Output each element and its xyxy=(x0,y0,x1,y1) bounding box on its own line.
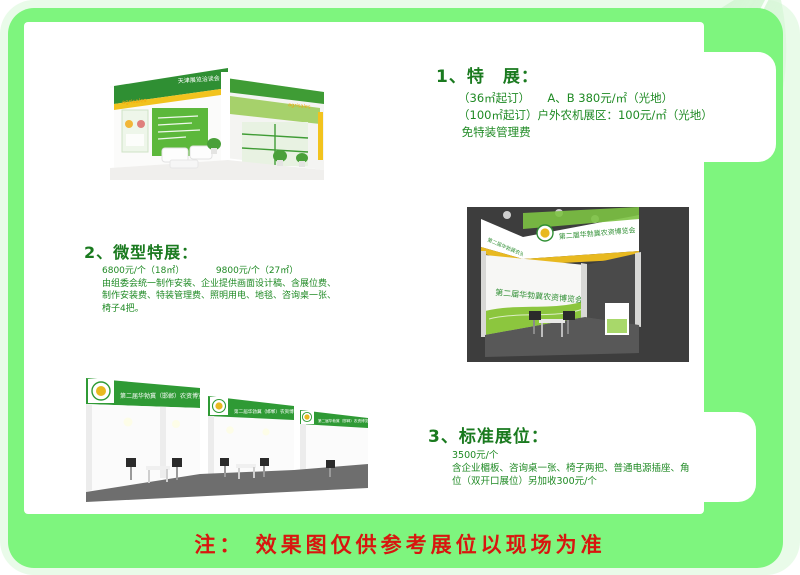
section-2-body: 6800元/个（18㎡） 9800元/个（27㎡） 由组委会统一制作安装、企业提… xyxy=(66,263,382,315)
section-1-line-2: （100㎡起订）户外农机展区：100元/㎡（光地） xyxy=(458,107,776,124)
section-3-body: 3500元/个 含企业楣板、咨询桌一张、椅子两把、普通电源插座、角 位（双开口展… xyxy=(406,447,756,488)
section-1-title: 特 展： xyxy=(467,67,539,87)
section-2-index: 2、 xyxy=(84,243,113,262)
photo-standard-booth: 第二届华勃冀（邯郸）农资博览会 第二届华勃冀（邯郸）农资博览会 第二届华勃冀（邯… xyxy=(68,366,380,506)
callout-standard-booth: 3、标准展位： 3500元/个 含企业楣板、咨询桌一张、椅子两把、普通电源插座、… xyxy=(406,412,756,502)
section-3-line-2: 含企业楣板、咨询桌一张、椅子两把、普通电源插座、角 xyxy=(452,462,756,475)
callout-micro-exhibit: 2、微型特展： 6800元/个（18㎡） 9800元/个（27㎡） 由组委会统一… xyxy=(66,233,382,331)
section-1-line-3: 免特装管理费 xyxy=(458,124,776,141)
bubble-tail-3 xyxy=(386,434,407,468)
svg-text:第二届华勃冀（邯郸）农资博览会: 第二届华勃冀（邯郸）农资博览会 xyxy=(120,392,210,400)
section-3-line-1: 3500元/个 xyxy=(452,449,756,462)
section-3-title: 标准展位： xyxy=(459,427,549,447)
section-3-heading: 3、标准展位： xyxy=(406,412,756,447)
photo-micro-booth: 第二届华勃冀农资博览会 第二届华勃冀农资博览会 第二届华勃冀农资博览会 xyxy=(467,207,689,362)
bubble-tail-1 xyxy=(394,74,415,108)
section-2-line-2: 由组委会统一制作安装、企业提供画面设计稿、含展位费、 xyxy=(102,278,382,291)
section-1-heading: 1、特 展： xyxy=(414,52,776,87)
footer-note: 注： 效果图仅供参考展位以现场为准 xyxy=(0,529,800,559)
photo-feature-booth: 天津展览洽谈会 agrisales agrisales xyxy=(66,30,362,202)
section-3-index: 3、 xyxy=(428,427,459,447)
poster-page: 天津展览洽谈会 agrisales agrisales xyxy=(0,0,800,575)
section-1-body: （36㎡起订） A、B 380元/㎡（光地） （100㎡起订）户外农机展区：10… xyxy=(414,87,776,141)
svg-text:第二届华勃冀（邯郸）农资博览会: 第二届华勃冀（邯郸）农资博览会 xyxy=(318,418,372,423)
section-2-title: 微型特展： xyxy=(113,243,198,262)
section-2-heading: 2、微型特展： xyxy=(66,233,382,263)
callout-feature-exhibit: 1、特 展： （36㎡起订） A、B 380元/㎡（光地） （100㎡起订）户外… xyxy=(414,52,776,162)
svg-text:第二届华勃冀（邯郸）农资博览会: 第二届华勃冀（邯郸）农资博览会 xyxy=(234,408,303,415)
section-2-line-4: 椅子4把。 xyxy=(102,303,382,316)
section-3-line-3: 位（双开口展位）另加收300元/个 xyxy=(452,475,756,488)
section-2-line-3: 制作安装费、特装管理费、照明用电、地毯、咨询桌一张、 xyxy=(102,290,382,303)
section-1-line-1: （36㎡起订） A、B 380元/㎡（光地） xyxy=(458,90,776,107)
section-1-index: 1、 xyxy=(436,67,467,87)
section-2-line-1: 6800元/个（18㎡） 9800元/个（27㎡） xyxy=(102,265,382,278)
